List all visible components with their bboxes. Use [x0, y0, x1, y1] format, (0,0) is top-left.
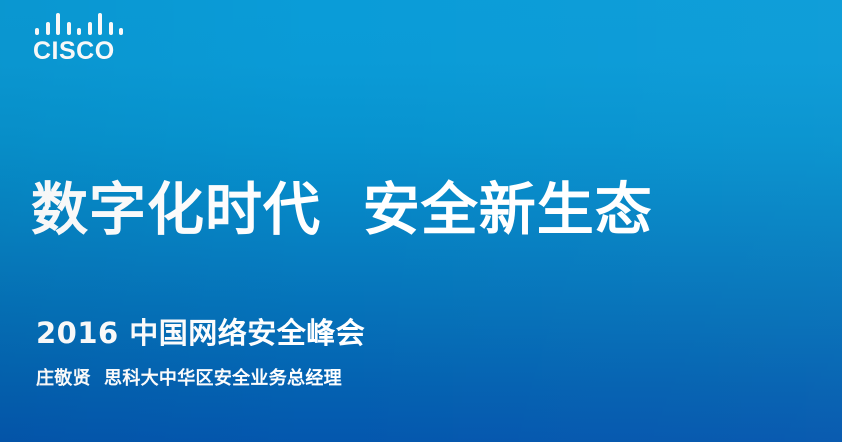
cisco-logo: CISCO	[33, 13, 125, 64]
cisco-bridge-icon	[35, 13, 123, 35]
cisco-bridge-bar	[109, 22, 113, 35]
presenter-line: 庄敬贤 思科大中华区安全业务总经理	[36, 369, 342, 389]
slide-subtitle: 2016 中国网络安全峰会	[36, 318, 365, 350]
cisco-bridge-bar	[119, 28, 123, 35]
cisco-wordmark: CISCO	[33, 39, 125, 64]
slide-headline: 数字化时代 安全新生态	[31, 180, 653, 242]
title-slide: CISCO 数字化时代 安全新生态 2016 中国网络安全峰会 庄敬贤 思科大中…	[0, 0, 842, 442]
cisco-bridge-bar	[56, 13, 60, 35]
cisco-bridge-bar	[67, 22, 71, 35]
cisco-bridge-bar	[35, 28, 39, 35]
cisco-bridge-bar	[98, 13, 102, 35]
cisco-bridge-bar	[46, 22, 50, 35]
cisco-bridge-bar	[88, 22, 92, 35]
cisco-bridge-bar	[77, 28, 81, 35]
